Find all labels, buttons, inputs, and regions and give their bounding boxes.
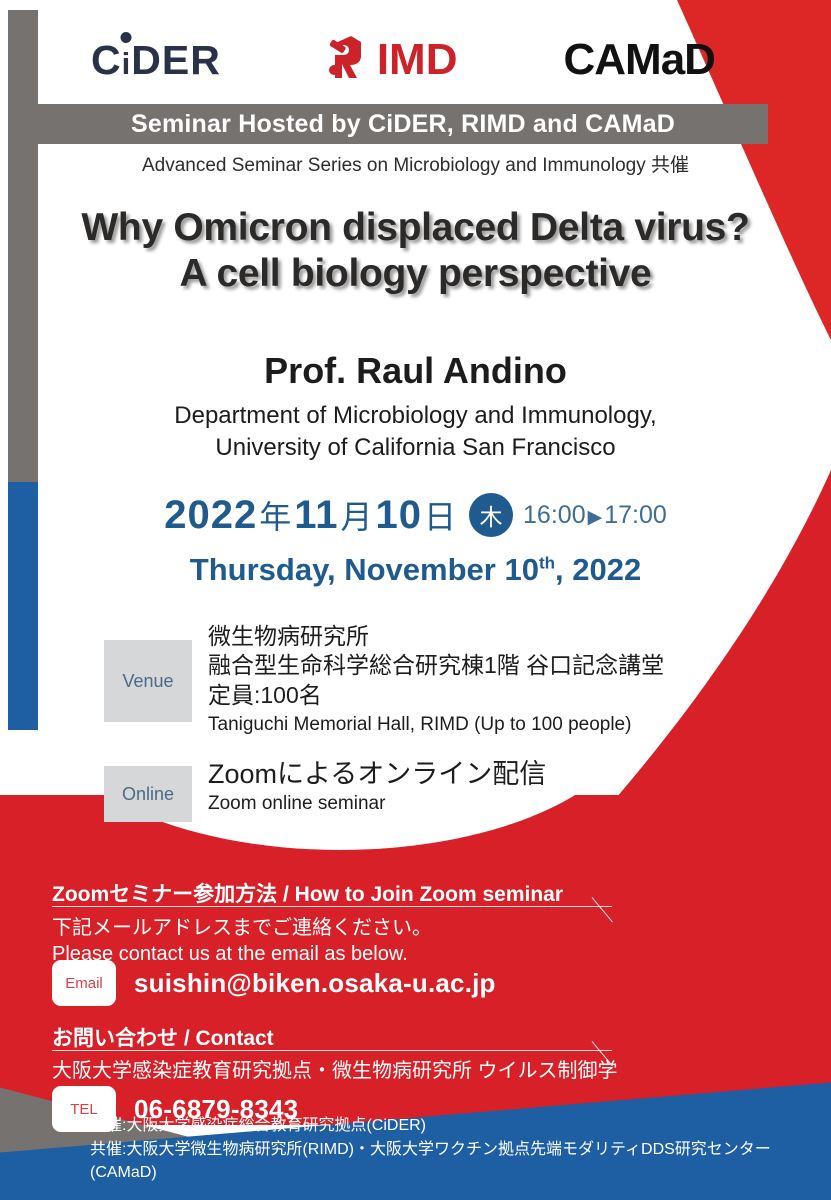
cider-logo-prefix: C (91, 37, 122, 84)
time-start: 16:00 (523, 501, 586, 529)
zoom-join-section: Zoomセミナー参加方法 / How to Join Zoom seminar (52, 878, 652, 913)
online-text: Zoomによるオンライン配信 Zoom online seminar (208, 760, 546, 815)
venue-block: Venue 微生物病研究所 融合型生命科学総合研究棟1階 谷口記念講堂 定員:1… (104, 622, 664, 736)
date-month-kanji: 月 (339, 492, 376, 538)
page-title: Why Omicron displaced Delta virus? A cel… (0, 205, 831, 297)
hosted-by-banner: Seminar Hosted by CiDER, RIMD and CAMaD (38, 104, 768, 144)
online-block: Online Zoomによるオンライン配信 Zoom online semina… (104, 760, 546, 822)
venue-tag: Venue (104, 640, 192, 722)
rimd-logo: IMD (327, 34, 458, 86)
date-day: 10 (376, 493, 423, 538)
hosted-by-banner-text: Seminar Hosted by CiDER, RIMD and CAMaD (131, 110, 675, 139)
date-day-kanji: 日 (422, 492, 459, 538)
online-tag: Online (104, 766, 192, 822)
logo-row: CiDER IMD CAMaD (38, 22, 768, 98)
time-arrow-icon: ▶ (586, 507, 605, 528)
camad-logo: CAMaD (564, 35, 715, 85)
contact-section: お問い合わせ / Contact (52, 1022, 652, 1057)
venue-jp-line1: 微生物病研究所 (208, 622, 664, 651)
email-row: Email suishin@biken.osaka-u.ac.jp (52, 960, 652, 1006)
online-en: Zoom online seminar (208, 793, 546, 815)
weekday-badge: 木 (469, 493, 513, 537)
rimd-microscope-r-icon (327, 34, 375, 86)
email-tag: Email (52, 960, 116, 1006)
date-year: 2022 (164, 493, 257, 538)
date-month: 11 (294, 493, 338, 538)
date-english-main: Thursday, November 10 (190, 552, 539, 587)
venue-en: Taniguchi Memorial Hall, RIMD (Up to 100… (208, 714, 664, 736)
speaker-affiliation-line2: University of California San Francisco (0, 432, 831, 464)
date-english-ordinal: th (539, 554, 555, 573)
page-title-line1: Why Omicron displaced Delta virus? (0, 205, 831, 251)
contact-rule (52, 1050, 612, 1051)
footer-line2: 共催:大阪大学微生物病研究所(RIMD)・大阪大学ワクチン拠点先端モダリティDD… (90, 1138, 830, 1184)
date-row-japanese: 2022年11月10日 木 16:00▶17:00 (0, 492, 831, 538)
footer-line1: 主催:大阪大学感染症総合教育研究拠点(CiDER) (90, 1114, 830, 1137)
venue-jp-line2: 融合型生命科学総合研究棟1階 谷口記念講堂 (208, 651, 664, 680)
zoom-join-body-jp: 下記メールアドレスまでご連絡ください。 (52, 915, 652, 941)
cider-logo: CiDER (91, 37, 221, 84)
time-end: 17:00 (604, 501, 667, 529)
email-value[interactable]: suishin@biken.osaka-u.ac.jp (134, 968, 496, 999)
series-subtitle: Advanced Seminar Series on Microbiology … (0, 150, 831, 177)
page-title-line2: A cell biology perspective (0, 251, 831, 297)
speaker-affiliation-line1: Department of Microbiology and Immunolog… (0, 400, 831, 432)
rimd-logo-text: IMD (377, 35, 458, 85)
cider-logo-suffix: DER (131, 37, 221, 84)
cider-logo-i: i (122, 46, 132, 82)
venue-text: 微生物病研究所 融合型生命科学総合研究棟1階 谷口記念講堂 定員:100名 Ta… (208, 622, 664, 736)
online-jp: Zoomによるオンライン配信 (208, 760, 546, 790)
footer-organizers: 主催:大阪大学感染症総合教育研究拠点(CiDER) 共催:大阪大学微生物病研究所… (90, 1114, 830, 1184)
speaker-name: Prof. Raul Andino (0, 350, 831, 392)
seminar-poster: CiDER IMD CAMaD Seminar Hosted by CiDER,… (0, 0, 831, 1200)
contact-body: 大阪大学感染症教育研究拠点・微生物病研究所 ウイルス制御学 (52, 1058, 652, 1084)
contact-heading: お問い合わせ / Contact (52, 1022, 652, 1057)
contact-body-jp: 大阪大学感染症教育研究拠点・微生物病研究所 ウイルス制御学 (52, 1058, 652, 1084)
date-year-kanji: 年 (257, 492, 294, 538)
date-japanese: 2022年11月10日 (164, 492, 459, 538)
date-english: Thursday, November 10th, 2022 (0, 552, 831, 588)
zoom-join-heading: Zoomセミナー参加方法 / How to Join Zoom seminar (52, 878, 652, 913)
speaker-affiliation: Department of Microbiology and Immunolog… (0, 400, 831, 465)
date-english-year: , 2022 (555, 552, 641, 587)
venue-jp-line3: 定員:100名 (208, 681, 664, 710)
time-range: 16:00▶17:00 (523, 501, 667, 530)
zoom-join-rule (52, 906, 612, 907)
